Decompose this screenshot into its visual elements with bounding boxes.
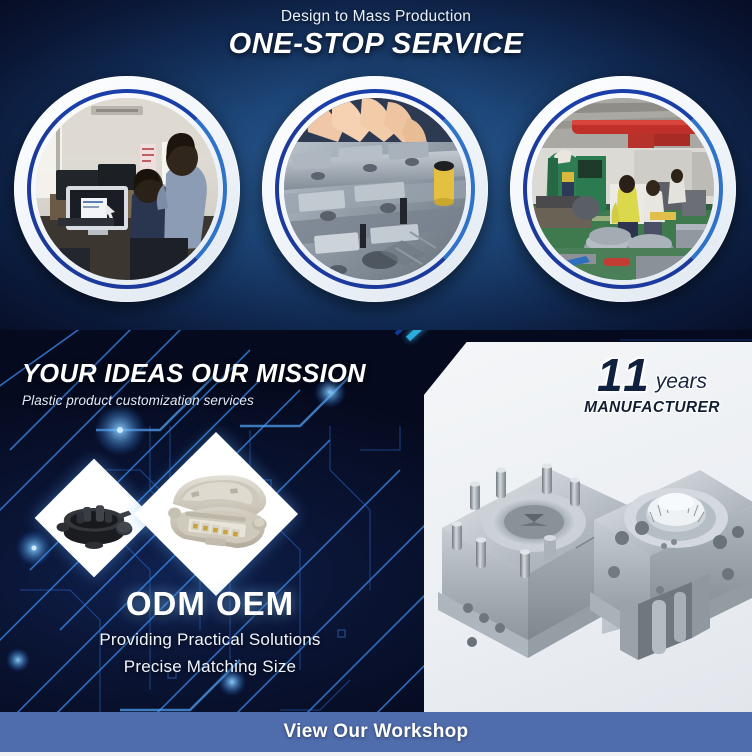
top-title: ONE-STOP SERVICE [0, 28, 752, 61]
odm-oem-group: ODM OEM Providing Practical Solutions Pr… [0, 585, 420, 677]
mold-half-right [590, 470, 752, 660]
medallion-design-office [14, 76, 240, 302]
view-workshop-bar[interactable]: View Our Workshop [0, 712, 752, 752]
design-office-photo [36, 98, 218, 280]
medallion-factory-floor [510, 76, 736, 302]
view-workshop-label: View Our Workshop [284, 721, 469, 743]
top-banner-section: Design to Mass Production ONE-STOP SERVI… [0, 0, 752, 330]
mission-subtitle: Plastic product customization services [22, 393, 366, 408]
mission-heading-group: YOUR IDEAS OUR MISSION Plastic product c… [22, 360, 366, 408]
years-badge: 11 years MANUFACTURER [572, 354, 732, 417]
years-number: 11 [597, 354, 653, 398]
manufacturer-label: MANUFACTURER [572, 399, 732, 417]
mission-title: YOUR IDEAS OUR MISSION [22, 360, 366, 389]
factory-floor-photo [532, 98, 714, 280]
top-subtitle: Design to Mass Production [0, 8, 752, 26]
bottom-feature-section: ACKGROUND YOUR IDEAS OUR MISSION Plastic… [0, 330, 752, 756]
medallion-mold-assembly [262, 76, 488, 302]
years-unit: years [656, 370, 707, 394]
top-heading-group: Design to Mass Production ONE-STOP SERVI… [0, 8, 752, 61]
odm-line-2: Precise Matching Size [0, 657, 420, 677]
banner-root: Design to Mass Production ONE-STOP SERVI… [0, 0, 752, 756]
odm-oem-title: ODM OEM [0, 585, 420, 623]
footer-bottom-strip [0, 752, 752, 756]
mold-assembly-photo [284, 98, 466, 280]
odm-line-1: Providing Practical Solutions [0, 630, 420, 650]
